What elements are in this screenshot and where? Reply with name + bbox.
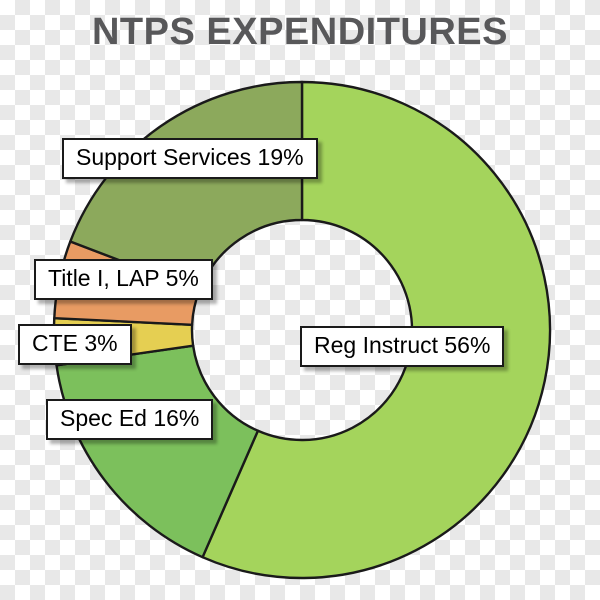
callout-title-i-lap: Title I, LAP 5% bbox=[34, 259, 213, 300]
chart-canvas: NTPS EXPENDITURES Support Services 19% T… bbox=[0, 0, 600, 600]
callout-support-services: Support Services 19% bbox=[62, 138, 318, 179]
donut-chart-svg bbox=[0, 0, 600, 600]
callout-spec-ed: Spec Ed 16% bbox=[46, 399, 213, 440]
callout-reg-instruct: Reg Instruct 56% bbox=[300, 326, 504, 367]
callout-cte: CTE 3% bbox=[18, 324, 132, 365]
donut-chart bbox=[0, 0, 600, 600]
